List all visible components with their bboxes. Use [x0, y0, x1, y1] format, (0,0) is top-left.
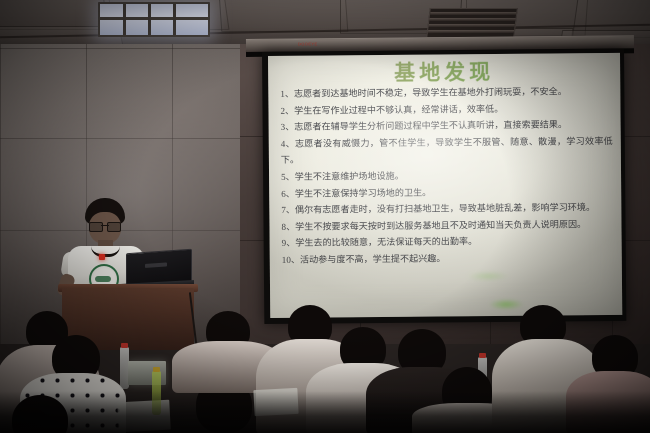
slide-item: 1、志愿者到达基地时间不稳定，导致学生在基地外打闹玩耍，不安全。	[280, 83, 612, 102]
laptop-logo-icon	[145, 262, 167, 268]
slide-item: 4、志愿者没有威慑力，管不住学生，导致学生不服管、随意、散漫，学习效率低下。	[281, 133, 613, 169]
slide-item: 8、学生不按要求每天按时到达服务基地且不及时通知当天负责人说明原因。	[281, 216, 613, 235]
glasses-icon	[89, 222, 121, 230]
ceiling-light-icon	[98, 2, 210, 37]
air-vent-icon	[426, 8, 518, 38]
slide-item: 10、活动参与度不高，学生提不起兴趣。	[282, 249, 614, 268]
slide-body: 1、志愿者到达基地时间不稳定，导致学生在基地外打闹玩耍，不安全。 2、学生在写作…	[280, 83, 614, 268]
lecture-hall-scene: DOOEYE 基地发现 1、志愿者到达基地时间不稳定，导致学生在基地外打闹玩耍，…	[0, 0, 650, 433]
projection-screen: 基地发现 1、志愿者到达基地时间不稳定，导致学生在基地外打闹玩耍，不安全。 2、…	[268, 53, 622, 318]
badge-pin-icon	[99, 254, 105, 260]
laser-pointer-trace	[466, 272, 510, 280]
audience	[0, 305, 650, 433]
housing-brand-label: DOOEYE	[298, 41, 318, 46]
